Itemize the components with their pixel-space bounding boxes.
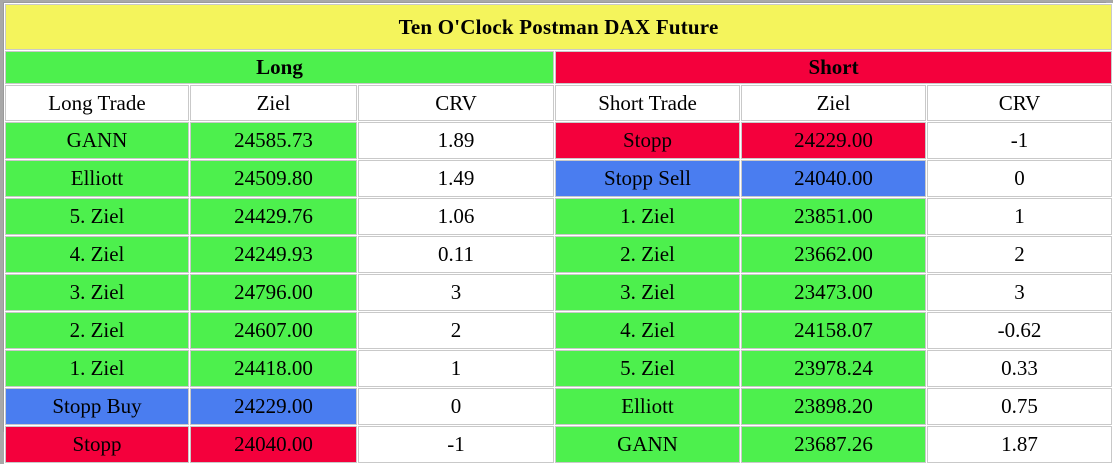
cell-short-crv: 3 <box>927 274 1112 311</box>
table-row: 2. Ziel24607.0024. Ziel24158.07-0.62 <box>5 312 1112 349</box>
cell-short-crv: 2 <box>927 236 1112 273</box>
table-row: GANN24585.731.89Stopp24229.00-1 <box>5 122 1112 159</box>
table-row: Stopp Buy24229.000Elliott23898.200.75 <box>5 388 1112 425</box>
cell-short-crv: -0.62 <box>927 312 1112 349</box>
cell-short-trade: 5. Ziel <box>555 350 740 387</box>
cell-long-ziel: 24418.00 <box>190 350 357 387</box>
cell-short-trade: Stopp Sell <box>555 160 740 197</box>
cell-long-crv: 1.49 <box>358 160 554 197</box>
cell-short-ziel: 23687.26 <box>741 426 926 463</box>
cell-short-trade: GANN <box>555 426 740 463</box>
column-header-long-trade: Long Trade <box>5 85 189 121</box>
cell-long-ziel: 24585.73 <box>190 122 357 159</box>
cell-short-crv: -1 <box>927 122 1112 159</box>
cell-long-trade: Elliott <box>5 160 189 197</box>
table-row: 4. Ziel24249.930.112. Ziel23662.002 <box>5 236 1112 273</box>
cell-long-crv: 1.06 <box>358 198 554 235</box>
cell-long-crv: 1.89 <box>358 122 554 159</box>
cell-short-trade: 3. Ziel <box>555 274 740 311</box>
section-header-long: Long <box>5 51 554 84</box>
table-row: 1. Ziel24418.0015. Ziel23978.240.33 <box>5 350 1112 387</box>
cell-long-crv: 2 <box>358 312 554 349</box>
cell-short-trade: 1. Ziel <box>555 198 740 235</box>
cell-long-crv: 0.11 <box>358 236 554 273</box>
trading-table-container: Ten O'Clock Postman DAX Future Long Shor… <box>3 2 1106 432</box>
cell-long-crv: 1 <box>358 350 554 387</box>
cell-long-trade: Stopp <box>5 426 189 463</box>
cell-long-trade: GANN <box>5 122 189 159</box>
cell-short-ziel: 23978.24 <box>741 350 926 387</box>
title-row: Ten O'Clock Postman DAX Future <box>5 4 1112 50</box>
cell-long-ziel: 24509.80 <box>190 160 357 197</box>
cell-long-trade: 4. Ziel <box>5 236 189 273</box>
table-row: 5. Ziel24429.761.061. Ziel23851.001 <box>5 198 1112 235</box>
cell-long-ziel: 24607.00 <box>190 312 357 349</box>
cell-long-ziel: 24040.00 <box>190 426 357 463</box>
cell-long-trade: Stopp Buy <box>5 388 189 425</box>
cell-short-crv: 0.33 <box>927 350 1112 387</box>
cell-long-trade: 5. Ziel <box>5 198 189 235</box>
table-row: Elliott24509.801.49Stopp Sell24040.000 <box>5 160 1112 197</box>
cell-long-crv: 0 <box>358 388 554 425</box>
cell-long-trade: 2. Ziel <box>5 312 189 349</box>
section-header-short: Short <box>555 51 1112 84</box>
column-header-long-crv: CRV <box>358 85 554 121</box>
cell-short-trade: Stopp <box>555 122 740 159</box>
section-band-row: Long Short <box>5 51 1112 84</box>
cell-short-ziel: 24040.00 <box>741 160 926 197</box>
cell-long-trade: 3. Ziel <box>5 274 189 311</box>
column-header-short-ziel: Ziel <box>741 85 926 121</box>
cell-long-ziel: 24249.93 <box>190 236 357 273</box>
cell-short-trade: 2. Ziel <box>555 236 740 273</box>
cell-short-crv: 1 <box>927 198 1112 235</box>
column-header-short-crv: CRV <box>927 85 1112 121</box>
trading-table: Ten O'Clock Postman DAX Future Long Shor… <box>4 3 1113 464</box>
cell-long-trade: 1. Ziel <box>5 350 189 387</box>
cell-short-ziel: 24229.00 <box>741 122 926 159</box>
cell-long-ziel: 24429.76 <box>190 198 357 235</box>
cell-long-ziel: 24229.00 <box>190 388 357 425</box>
table-row: Stopp24040.00-1GANN23687.261.87 <box>5 426 1112 463</box>
cell-long-crv: -1 <box>358 426 554 463</box>
cell-short-trade: Elliott <box>555 388 740 425</box>
cell-long-ziel: 24796.00 <box>190 274 357 311</box>
page-title: Ten O'Clock Postman DAX Future <box>5 4 1112 50</box>
page-frame: Ten O'Clock Postman DAX Future Long Shor… <box>0 0 1113 439</box>
cell-short-trade: 4. Ziel <box>555 312 740 349</box>
cell-short-crv: 0.75 <box>927 388 1112 425</box>
column-header-long-ziel: Ziel <box>190 85 357 121</box>
column-header-short-trade: Short Trade <box>555 85 740 121</box>
table-row: 3. Ziel24796.0033. Ziel23473.003 <box>5 274 1112 311</box>
cell-short-ziel: 23851.00 <box>741 198 926 235</box>
table-body: Ten O'Clock Postman DAX Future Long Shor… <box>5 4 1112 463</box>
cell-short-ziel: 23473.00 <box>741 274 926 311</box>
cell-short-crv: 1.87 <box>927 426 1112 463</box>
cell-long-crv: 3 <box>358 274 554 311</box>
cell-short-ziel: 23898.20 <box>741 388 926 425</box>
column-header-row: Long Trade Ziel CRV Short Trade Ziel CRV <box>5 85 1112 121</box>
cell-short-crv: 0 <box>927 160 1112 197</box>
cell-short-ziel: 24158.07 <box>741 312 926 349</box>
cell-short-ziel: 23662.00 <box>741 236 926 273</box>
